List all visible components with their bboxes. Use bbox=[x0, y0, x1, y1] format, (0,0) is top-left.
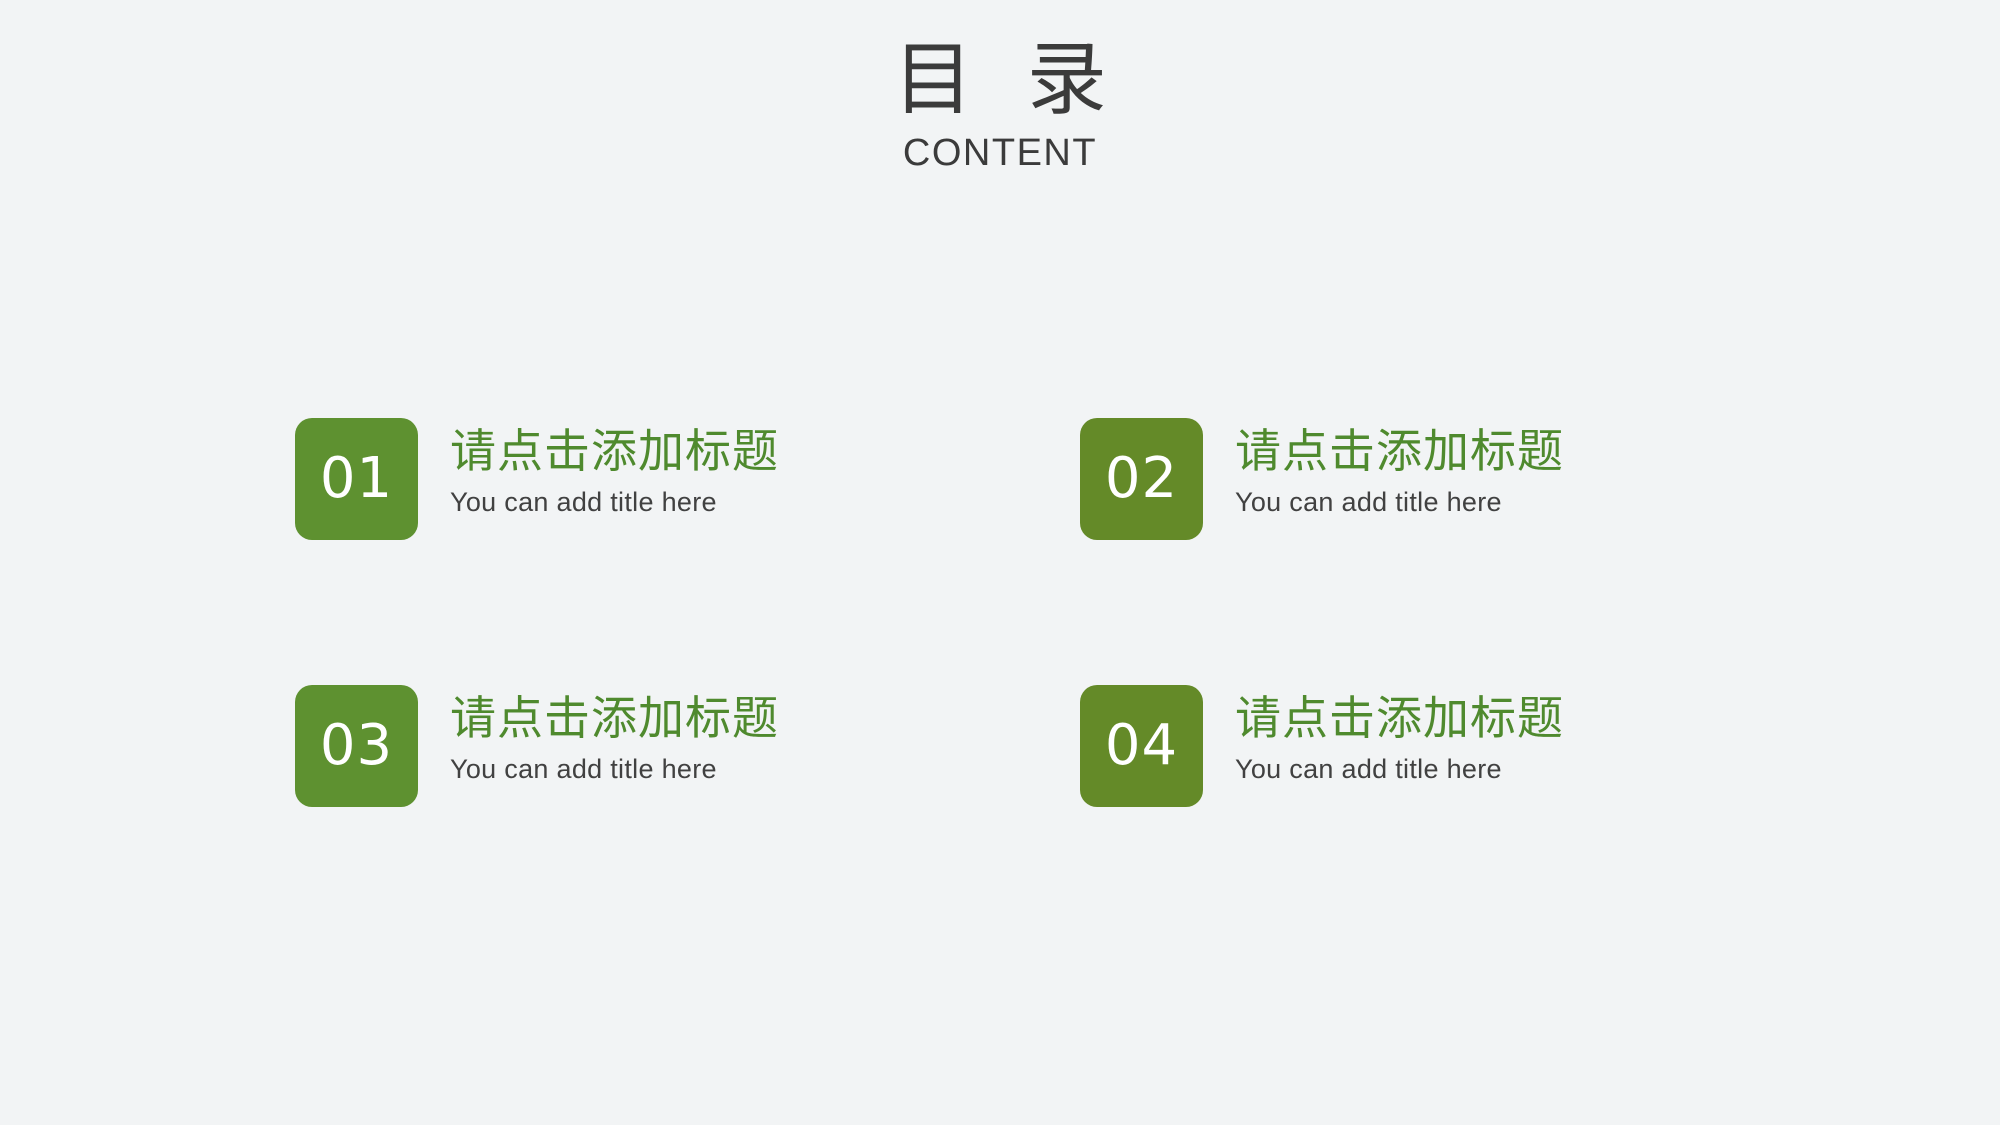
number-badge-01: 01 bbox=[295, 418, 418, 540]
page-title: 目 录 bbox=[0, 40, 2000, 120]
number-badge-03: 03 bbox=[295, 685, 418, 807]
page-subtitle: CONTENT bbox=[0, 134, 2000, 172]
item-subtitle[interactable]: You can add title here bbox=[1235, 753, 1564, 785]
content-item-04[interactable]: 04 请点击添加标题 You can add title here bbox=[1080, 685, 1865, 952]
item-subtitle[interactable]: You can add title here bbox=[1235, 486, 1564, 518]
slide-canvas: 目 录 CONTENT 01 请点击添加标题 You can add title… bbox=[0, 0, 2000, 1125]
content-item-03[interactable]: 03 请点击添加标题 You can add title here bbox=[295, 685, 1080, 952]
number-label: 03 bbox=[320, 718, 393, 774]
item-title[interactable]: 请点击添加标题 bbox=[1235, 691, 1564, 745]
number-badge-04: 04 bbox=[1080, 685, 1203, 807]
item-subtitle[interactable]: You can add title here bbox=[450, 753, 779, 785]
item-text-block-01: 请点击添加标题 You can add title here bbox=[450, 418, 779, 519]
item-subtitle[interactable]: You can add title here bbox=[450, 486, 779, 518]
slide-header: 目 录 CONTENT bbox=[0, 40, 2000, 172]
item-title[interactable]: 请点击添加标题 bbox=[1235, 424, 1564, 478]
number-label: 04 bbox=[1105, 718, 1178, 774]
content-grid: 01 请点击添加标题 You can add title here 02 请点击… bbox=[295, 418, 1795, 952]
content-item-02[interactable]: 02 请点击添加标题 You can add title here bbox=[1080, 418, 1865, 685]
item-title[interactable]: 请点击添加标题 bbox=[450, 691, 779, 745]
content-item-01[interactable]: 01 请点击添加标题 You can add title here bbox=[295, 418, 1080, 685]
number-label: 01 bbox=[320, 451, 393, 507]
item-text-block-04: 请点击添加标题 You can add title here bbox=[1235, 685, 1564, 786]
item-text-block-02: 请点击添加标题 You can add title here bbox=[1235, 418, 1564, 519]
number-badge-02: 02 bbox=[1080, 418, 1203, 540]
item-title[interactable]: 请点击添加标题 bbox=[450, 424, 779, 478]
item-text-block-03: 请点击添加标题 You can add title here bbox=[450, 685, 779, 786]
number-label: 02 bbox=[1105, 451, 1178, 507]
